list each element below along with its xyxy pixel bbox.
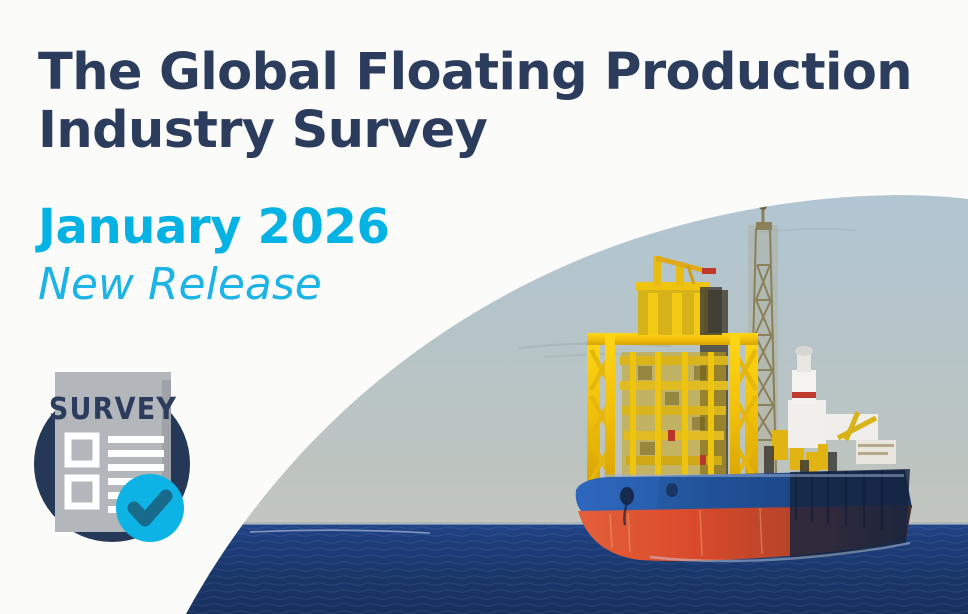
hull [576,469,912,561]
survey-icon-label: SURVEY [49,392,177,427]
process-decks [620,352,728,480]
headline-block: The Global Floating Production Industry … [38,44,912,310]
promo-banner: The Global Floating Production Industry … [0,0,968,614]
release-tag: New Release [38,254,912,310]
page-title: The Global Floating Production Industry … [38,44,912,160]
issue-date: January 2026 [38,160,912,254]
survey-icon: SURVEY [24,356,214,552]
